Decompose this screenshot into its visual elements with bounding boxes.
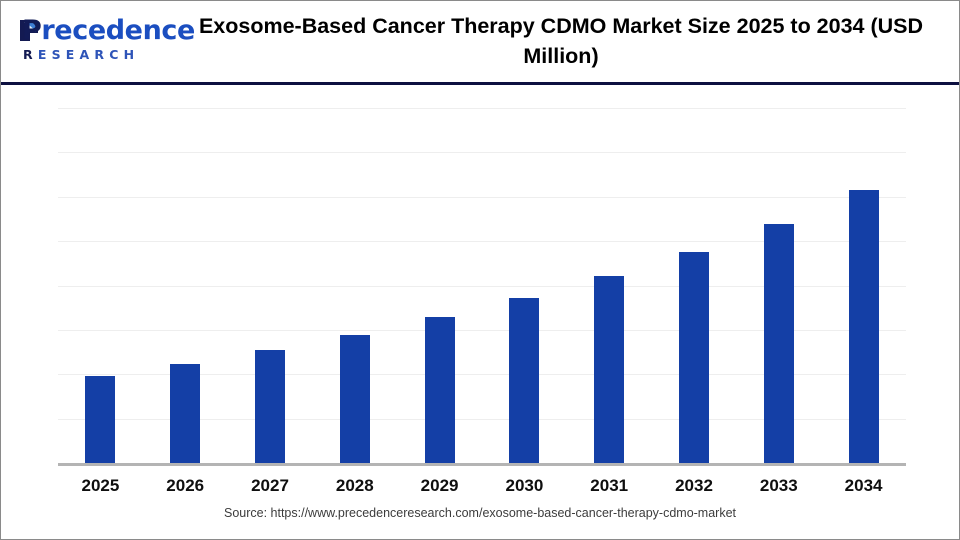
logo-subtitle-rest: ESEARCH <box>38 47 139 62</box>
bar-slot <box>228 129 313 463</box>
bar-slot <box>143 129 228 463</box>
x-tick-2028: 2028 <box>312 476 397 496</box>
logo-subtitle: RESEARCH <box>23 47 139 62</box>
bar-2034[interactable] <box>849 190 879 463</box>
bar-2028[interactable] <box>340 335 370 463</box>
logo-wordmark: Precedence <box>22 16 172 46</box>
bar-slot <box>821 129 906 463</box>
bar-slot <box>652 129 737 463</box>
bar-2029[interactable] <box>425 317 455 463</box>
page-title: Exosome-Based Cancer Therapy CDMO Market… <box>181 11 941 71</box>
bar-2033[interactable] <box>764 224 794 463</box>
bar-2025[interactable] <box>85 376 115 463</box>
x-tick-2034: 2034 <box>821 476 906 496</box>
logo-wordmark-initial: P <box>22 15 41 46</box>
bar-2030[interactable] <box>509 298 539 463</box>
x-tick-2025: 2025 <box>58 476 143 496</box>
bar-slot <box>397 129 482 463</box>
logo-subtitle-initial: R <box>23 47 38 62</box>
bar-slot <box>58 129 143 463</box>
x-axis-line <box>58 463 906 466</box>
x-axis-labels: 2025202620272028202920302031203220332034 <box>58 476 906 504</box>
bar-2031[interactable] <box>594 276 624 463</box>
gridline <box>58 108 906 109</box>
bar-slot <box>482 129 567 463</box>
bar-series <box>58 129 906 463</box>
bar-2026[interactable] <box>170 364 200 463</box>
header: Precedence RESEARCH Exosome-Based Cancer… <box>1 1 959 82</box>
bar-slot <box>312 129 397 463</box>
plot-area <box>58 108 906 466</box>
bar-slot <box>736 129 821 463</box>
x-tick-2030: 2030 <box>482 476 567 496</box>
x-tick-2026: 2026 <box>143 476 228 496</box>
x-tick-2029: 2029 <box>397 476 482 496</box>
bar-2032[interactable] <box>679 252 709 463</box>
bar-2027[interactable] <box>255 350 285 463</box>
bar-chart: 2025202620272028202920302031203220332034 <box>1 85 959 485</box>
precedence-research-logo: Precedence RESEARCH <box>15 15 175 67</box>
bar-slot <box>567 129 652 463</box>
source-caption: Source: https://www.precedenceresearch.c… <box>1 506 959 520</box>
x-tick-2027: 2027 <box>228 476 313 496</box>
x-tick-2032: 2032 <box>652 476 737 496</box>
logo-wordmark-rest: recedence <box>41 15 195 46</box>
x-tick-2033: 2033 <box>736 476 821 496</box>
x-tick-2031: 2031 <box>567 476 652 496</box>
chart-page: Precedence RESEARCH Exosome-Based Cancer… <box>0 0 960 540</box>
